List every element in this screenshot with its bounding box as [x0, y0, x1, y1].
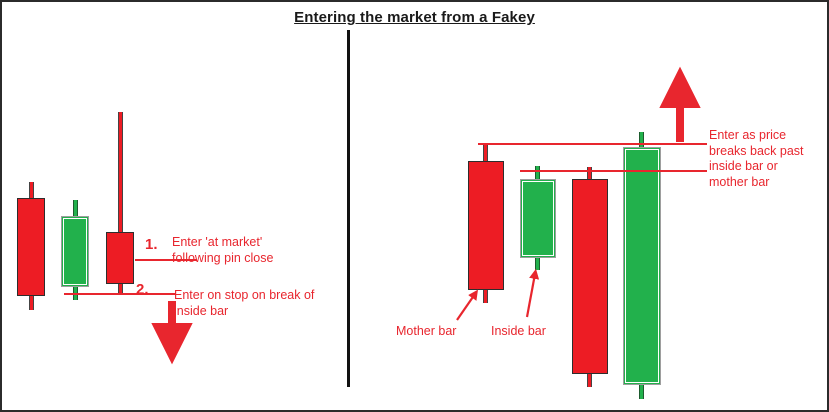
breakout-bar-body — [623, 147, 661, 385]
inside-bar-high-line — [520, 170, 707, 172]
candle-3-pin-bar-body — [106, 232, 134, 284]
annotation-text-1: Enter 'at market' following pin close — [172, 235, 273, 266]
annotation-number-1: 1. — [145, 236, 158, 253]
entry-line-2-extension — [154, 293, 176, 295]
page-title: Entering the market from a Fakey — [2, 9, 827, 26]
breakout-annotation-text: Enter as price breaks back past inside b… — [709, 128, 804, 190]
arrow-overlay — [2, 2, 829, 412]
inside-bar-body — [520, 179, 556, 258]
annotation-text-2: Enter on stop on break of inside bar — [174, 288, 314, 319]
mother-bar-label: Mother bar — [396, 324, 456, 338]
annotation-number-2: 2. — [136, 281, 149, 298]
inside-bar-label: Inside bar — [491, 324, 546, 338]
mother-bar-body — [468, 161, 504, 290]
mother-bar-pointer-arrow — [457, 294, 475, 320]
chart-canvas: Entering the market from a Fakey 1. Ente… — [0, 0, 829, 412]
inside-bar-pointer-arrow — [527, 274, 535, 317]
fakey-bar-body — [572, 179, 608, 374]
panel-divider — [347, 30, 350, 387]
mother-bar-high-line — [478, 143, 707, 145]
candle-1-body — [17, 198, 45, 296]
candle-2-body — [61, 216, 89, 287]
